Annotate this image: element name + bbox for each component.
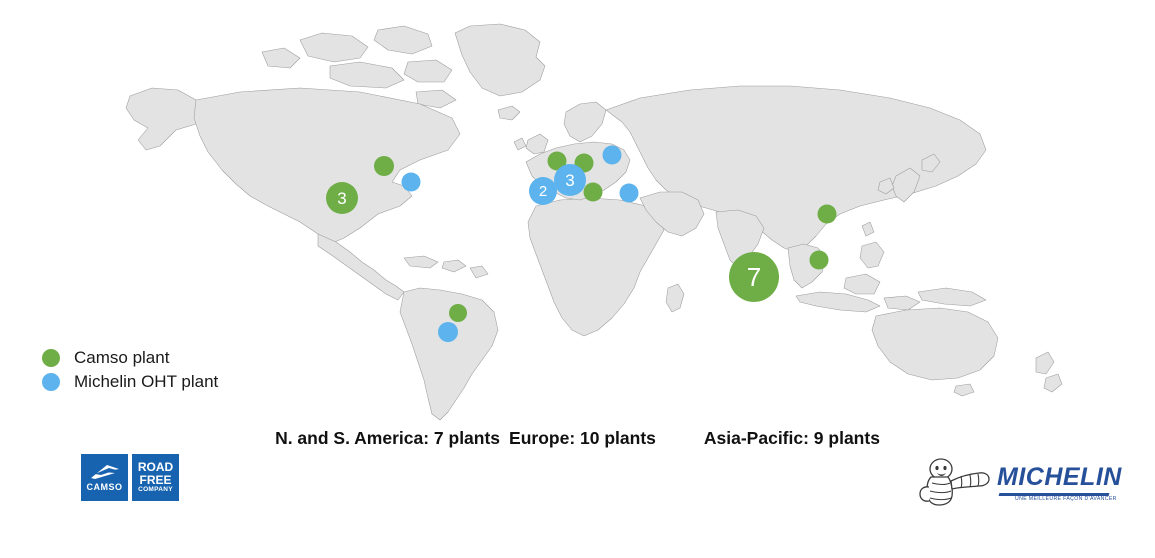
camso-road-free-box: ROAD FREE COMPANY [132, 454, 179, 501]
plant-marker-ap-green-sea[interactable] [810, 251, 829, 270]
plant-marker-count: 3 [565, 172, 574, 189]
legend-item-camso: Camso plant [42, 346, 218, 370]
camso-logo-mark-box: CAMSO [81, 454, 128, 501]
filled-circle-icon-blue [42, 373, 60, 391]
filled-circle-icon-green [42, 349, 60, 367]
plant-marker-count: 3 [337, 190, 346, 207]
plant-marker-count: 7 [747, 264, 761, 290]
plant-marker-eu-blue-northeast[interactable] [603, 146, 622, 165]
plant-marker-sa-blue-brazil[interactable] [438, 322, 458, 342]
camso-line-road: ROAD [138, 461, 173, 473]
camso-line-free: FREE [138, 474, 173, 486]
camso-logo: CAMSO ROAD FREE COMPANY [81, 454, 179, 501]
camso-road-free-company: ROAD FREE COMPANY [138, 461, 173, 493]
michelin-tagline: UNE MEILLEURE FAÇON D'AVANCER [1015, 496, 1117, 502]
caption-europe: Europe: 10 plants [509, 428, 656, 449]
caption-americas: N. and S. America: 7 plants [275, 428, 500, 449]
plant-marker-ap-green-china[interactable] [818, 205, 837, 224]
plant-marker-eu-green-italy[interactable] [584, 183, 603, 202]
caption-asia-pacific: Asia-Pacific: 9 plants [704, 428, 880, 449]
legend: Camso plant Michelin OHT plant [42, 346, 218, 394]
plant-marker-na-green-ontario[interactable] [374, 156, 394, 176]
plant-marker-na-green-cluster[interactable]: 3 [326, 182, 358, 214]
plant-marker-na-blue-northeast[interactable] [402, 173, 421, 192]
plant-marker-count: 2 [539, 184, 547, 199]
camso-chevron-icon [89, 463, 121, 480]
plant-marker-eu-blue-iberia[interactable]: 2 [529, 177, 557, 205]
map-landmasses [126, 24, 1062, 420]
michelin-bibendum-icon [915, 455, 995, 511]
plant-marker-ap-green-cluster[interactable]: 7 [729, 252, 779, 302]
plant-count-caption: N. and S. America: 7 plantsEurope: 10 pl… [0, 428, 1155, 449]
plant-marker-eu-blue-cluster[interactable]: 3 [554, 164, 586, 196]
legend-label-michelin-oht: Michelin OHT plant [74, 372, 218, 392]
camso-line-company: COMPANY [138, 487, 173, 494]
camso-wordmark: CAMSO [87, 483, 123, 492]
plant-marker-eu-blue-turkey[interactable] [620, 184, 639, 203]
michelin-logo: MICHELIN UNE MEILLEURE FAÇON D'AVANCER [915, 455, 1115, 511]
legend-item-michelin-oht: Michelin OHT plant [42, 370, 218, 394]
michelin-wordmark: MICHELIN [997, 465, 1122, 490]
slide-canvas: 3237 Camso plant Michelin OHT plant N. a… [0, 0, 1155, 558]
plant-marker-sa-green-brazil[interactable] [449, 304, 467, 322]
legend-label-camso: Camso plant [74, 348, 169, 368]
